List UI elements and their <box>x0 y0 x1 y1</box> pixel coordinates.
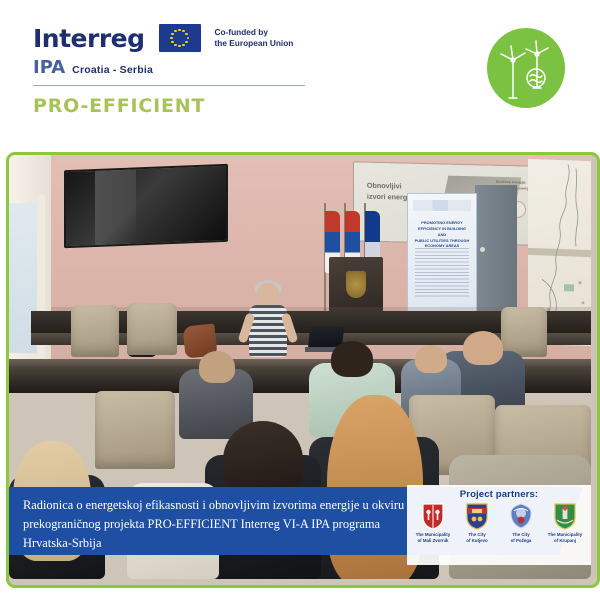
eu-star <box>185 41 187 43</box>
eu-star <box>171 41 173 43</box>
partner-name: The Municipality of Mali Zvornik <box>412 532 454 545</box>
eu-star <box>187 37 189 39</box>
interreg-logo-row: Interreg Co-funded by the European Union <box>33 24 363 52</box>
partner-name-line-2: of Požega <box>500 538 542 544</box>
poster-page: Interreg Co-funded by the European Union… <box>0 0 600 600</box>
partner-item: The Municipality of Krupanj <box>544 503 586 545</box>
tv-glare <box>95 169 137 245</box>
rollup-banner-body-text <box>415 248 469 298</box>
rollup-heading-line-2: EFFICIENCY IN BUILDING AND <box>414 226 470 238</box>
speaker-body <box>249 305 287 357</box>
partner-name: The Municipality of Krupanj <box>544 532 586 545</box>
caption-text: Radionica o energetskoj efikasnosti i ob… <box>9 487 423 553</box>
speaker-head <box>257 283 279 306</box>
attendee-head <box>331 341 373 377</box>
wind-turbine-icon <box>487 28 565 108</box>
podium-emblem <box>346 271 365 298</box>
eu-star <box>178 45 180 47</box>
ipa-wordmark: IPA <box>33 59 65 77</box>
workshop-photo: Obnovljivi izvori energije Sunčeva energ… <box>6 152 600 588</box>
eu-flag-icon <box>159 24 201 52</box>
partner-item: The Municipality of Mali Zvornik <box>412 503 454 545</box>
partners-panel: Project partners: The Munici <box>407 485 591 565</box>
photo-scene: Obnovljivi izvori energije Sunčeva energ… <box>9 155 591 579</box>
rollup-banner-heading: PROMOTING ENERGY EFFICIENCY IN BUILDING … <box>414 220 470 249</box>
chair <box>501 307 547 357</box>
eu-star <box>174 30 176 32</box>
eu-star <box>170 37 172 39</box>
rollup-heading-line-1: PROMOTING ENERGY <box>414 220 470 226</box>
wall-tv <box>64 164 228 248</box>
partner-item: The City of Požega <box>500 503 542 545</box>
eu-funding-text: Co-funded by the European Union <box>215 27 294 48</box>
rollup-banner: PROMOTING ENERGY EFFICIENCY IN BUILDING … <box>407 193 477 313</box>
eu-star <box>174 44 176 46</box>
partners-title: Project partners: <box>407 485 591 500</box>
chair <box>127 303 177 355</box>
crest-mali-zvornik-icon <box>422 503 444 530</box>
partner-name-line-2: of Kutjevo <box>456 538 498 544</box>
chair <box>71 305 119 357</box>
room-door <box>475 185 517 313</box>
eu-funding-line-2: the European Union <box>215 38 294 49</box>
eu-star <box>182 30 184 32</box>
crest-krupanj-icon <box>554 503 576 530</box>
header-divider <box>33 85 305 86</box>
partner-name-line-2: of Mali Zvornik <box>412 538 454 544</box>
rollup-banner-eu-logos <box>413 200 470 211</box>
eu-star <box>178 29 180 31</box>
attendee-head <box>415 345 447 373</box>
eu-star <box>171 33 173 35</box>
partners-row: The Municipality of Mali Zvornik <box>407 500 591 545</box>
programme-label: Croatia - Serbia <box>72 64 153 76</box>
crest-pozega-icon <box>510 503 532 530</box>
eu-star <box>182 44 184 46</box>
attendee-head <box>463 331 503 365</box>
attendee-head <box>199 351 235 383</box>
page-title: PRO-EFFICIENT <box>33 97 363 116</box>
ipa-logo-row: IPA Croatia - Serbia <box>33 59 363 77</box>
eu-funding-line-1: Co-funded by <box>215 27 294 38</box>
door-knob <box>480 247 485 252</box>
partner-name-line-2: of Krupanj <box>544 538 586 544</box>
partner-name: The City of Kutjevo <box>456 532 498 545</box>
header: Interreg Co-funded by the European Union… <box>0 0 600 148</box>
crest-kutjevo-icon <box>466 503 488 530</box>
partner-item: The City of Kutjevo <box>456 503 498 545</box>
eu-star <box>185 33 187 35</box>
interreg-branding: Interreg Co-funded by the European Union… <box>33 24 363 116</box>
partner-name: The City of Požega <box>500 532 542 545</box>
speaker-person <box>245 283 291 361</box>
chair <box>95 391 175 469</box>
interreg-wordmark: Interreg <box>33 26 145 51</box>
